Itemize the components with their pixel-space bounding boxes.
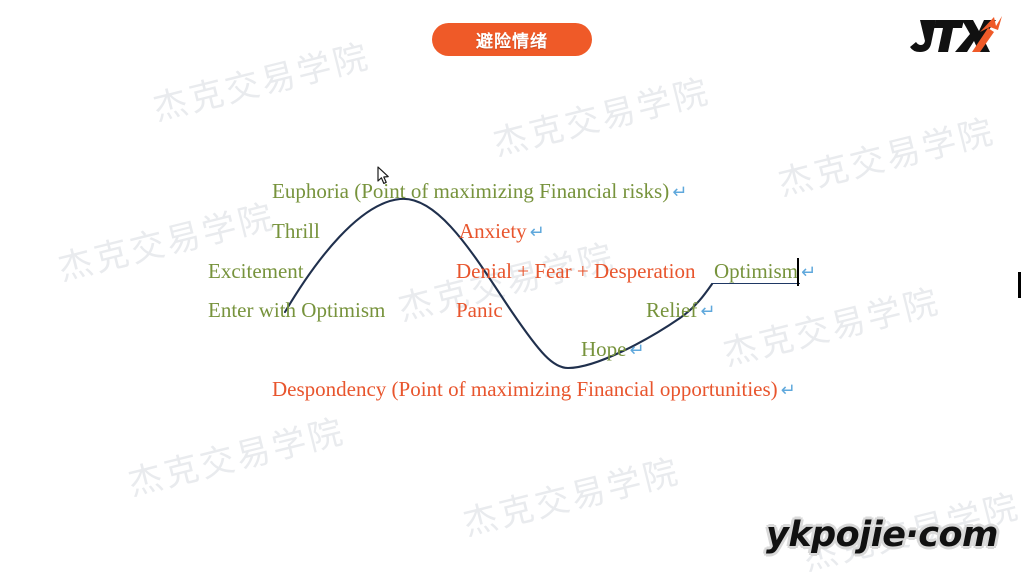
slide-title-badge: 避险情绪	[432, 23, 592, 56]
emotion-label-euphoria[interactable]: Euphoria (Point of maximizing Financial …	[272, 181, 687, 202]
paragraph-mark-icon: ↵	[672, 182, 687, 203]
slide-canvas: 避险情绪 Euphoria (Point of maximizing Finan…	[0, 0, 1024, 575]
emotion-label-anxiety[interactable]: Anxiety↵	[459, 221, 545, 242]
paragraph-mark-icon: ↵	[781, 380, 796, 401]
text-caret	[797, 258, 799, 286]
emotion-label-text: Thrill	[272, 219, 320, 243]
emotion-label-text: Despondency (Point of maximizing Financi…	[272, 377, 778, 401]
paragraph-mark-icon: ↵	[530, 222, 545, 243]
mouse-cursor-icon	[377, 166, 391, 191]
emotion-label-despondency[interactable]: Despondency (Point of maximizing Financi…	[272, 379, 796, 400]
emotion-cycle-curve	[0, 0, 1024, 575]
emotion-label-text: Anxiety	[459, 219, 527, 243]
site-watermark: ykpojie·com	[756, 511, 1008, 559]
emotion-label-text: Optimism	[714, 259, 798, 283]
emotion-label-text: Euphoria (Point of maximizing Financial …	[272, 179, 669, 203]
jtx-logo-icon	[910, 14, 1002, 58]
emotion-label-text: Excitement	[208, 259, 304, 283]
emotion-label-text: Relief	[646, 298, 697, 322]
emotion-label-relief[interactable]: Relief↵	[646, 300, 715, 321]
jtx-logo	[910, 14, 1002, 58]
emotion-label-optimism[interactable]: Optimism↵	[714, 261, 816, 282]
emotion-label-thrill[interactable]: Thrill	[272, 221, 320, 242]
paragraph-mark-icon: ↵	[801, 262, 816, 283]
emotion-label-text: Denial + Fear + Desperation	[456, 259, 695, 283]
emotion-label-panic[interactable]: Panic	[456, 300, 503, 321]
emotion-label-excitement[interactable]: Excitement	[208, 261, 304, 282]
emotion-label-enter[interactable]: Enter with Optimism	[208, 300, 385, 321]
emotion-label-text: Enter with Optimism	[208, 298, 385, 322]
emotion-label-text: Hope	[581, 337, 627, 361]
emotion-label-text: Panic	[456, 298, 503, 322]
optimism-underline	[712, 283, 800, 284]
slide-title-text: 避险情绪	[476, 27, 548, 52]
paragraph-mark-icon: ↵	[630, 340, 645, 361]
emotion-label-hope[interactable]: Hope↵	[581, 339, 645, 360]
right-edge-marker	[1018, 272, 1021, 298]
emotion-label-denial[interactable]: Denial + Fear + Desperation	[456, 261, 695, 282]
paragraph-mark-icon: ↵	[700, 301, 715, 322]
